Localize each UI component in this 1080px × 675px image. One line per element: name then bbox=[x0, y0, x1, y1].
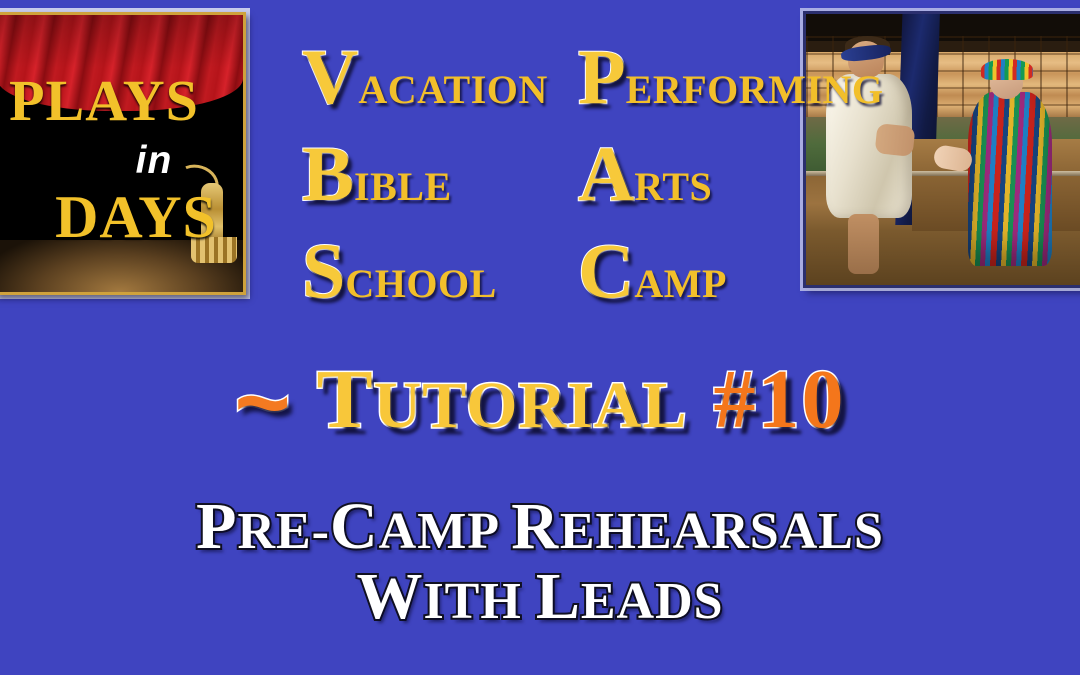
acronym-rest-erforming: ERFORMING bbox=[626, 72, 884, 108]
acronym-cap-b: B bbox=[302, 139, 354, 209]
acronym-cap-c: C bbox=[578, 236, 634, 306]
tutorial-word: TUTORIAL bbox=[317, 353, 688, 446]
tutorial-heading: ~TUTORIAL#10 bbox=[0, 348, 1080, 458]
acronym-row-performing: P ERFORMING bbox=[578, 42, 883, 112]
plays-in-days-logo: PLAYS in DAYS bbox=[0, 12, 246, 295]
slide-canvas: PLAYS in DAYS V ACATION bbox=[0, 0, 1080, 675]
subtitle-l1-cap-r: R bbox=[511, 490, 560, 563]
striped-cap bbox=[981, 59, 1033, 80]
tutorial-word-cap: T bbox=[317, 353, 374, 446]
logo-line-in: in bbox=[31, 139, 246, 183]
acronym-rest-ible: IBLE bbox=[354, 169, 452, 205]
subtitle-l2-rest-eads: EADS bbox=[581, 573, 724, 630]
acronym-cap-v: V bbox=[302, 42, 358, 112]
subtitle-l1-rest-ehearsals: EHEARSALS bbox=[560, 503, 884, 560]
subtitle-l1-cap-p: P bbox=[196, 490, 237, 563]
acronym-rest-chool: CHOOL bbox=[345, 266, 496, 302]
actor-arm bbox=[874, 123, 915, 157]
subtitle-l2-rest-ith: ITH bbox=[423, 573, 535, 630]
logo-line-plays: PLAYS bbox=[0, 67, 227, 134]
acronym-row-camp: C AMP bbox=[578, 236, 727, 306]
tutorial-number: #10 bbox=[713, 353, 845, 446]
acronym-cap-p: P bbox=[578, 42, 626, 112]
tilde-ornament: ~ bbox=[235, 349, 291, 456]
subtitle-line-2: WITH LEADS bbox=[0, 562, 1080, 632]
subtitle-l2-cap-l: L bbox=[536, 560, 581, 633]
acronym-row-school: S CHOOL bbox=[302, 236, 497, 306]
subtitle-l1-rest-amp: AMP bbox=[379, 503, 512, 560]
actor-legs bbox=[848, 214, 879, 275]
acronym-row-vacation: V ACATION bbox=[302, 42, 548, 112]
acronym-rest-rts: RTS bbox=[634, 169, 712, 205]
acronym-row-bible: B IBLE bbox=[302, 139, 452, 209]
subtitle-line-1: PRE-CAMP REHEARSALS bbox=[0, 492, 1080, 562]
acronym-row-arts: A RTS bbox=[578, 139, 712, 209]
subtitle-block: PRE-CAMP REHEARSALS WITH LEADS bbox=[0, 492, 1080, 632]
subtitle-l1-cap-c: C bbox=[330, 490, 379, 563]
logo-line-days: DAYS bbox=[13, 183, 246, 252]
coat-of-many-colors bbox=[968, 92, 1052, 265]
tutorial-word-rest: UTORIAL bbox=[374, 369, 688, 442]
acronym-cap-s: S bbox=[302, 236, 345, 306]
acronym-cap-a: A bbox=[578, 139, 634, 209]
acronym-rest-amp: AMP bbox=[634, 266, 727, 302]
subtitle-l2-cap-w: W bbox=[356, 560, 423, 633]
acronym-rest-acation: ACATION bbox=[358, 72, 547, 108]
subtitle-l1-rest-re: RE- bbox=[237, 503, 330, 560]
actor-striped-coat bbox=[968, 63, 1052, 274]
